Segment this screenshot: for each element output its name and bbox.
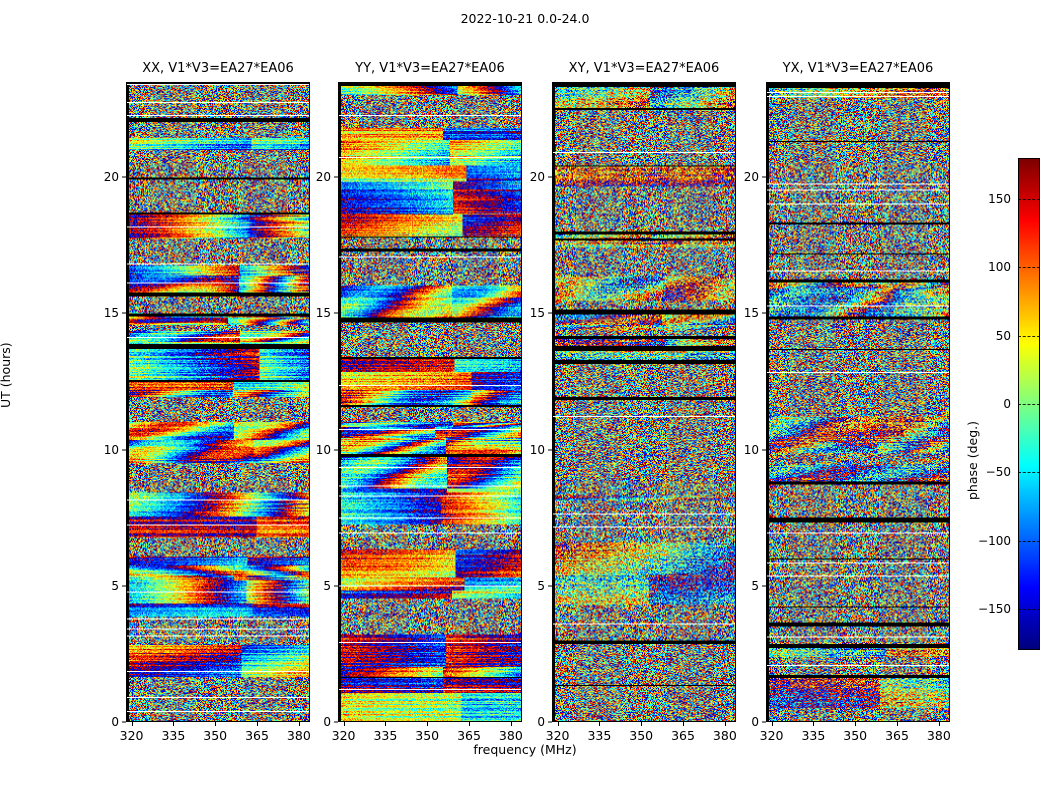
colorbar-tick-mark [1018,336,1040,338]
colorbar-tick-label: −50 [986,465,1018,479]
colorbar-tick-mark [1018,609,1040,611]
colorbar-label: phase (deg.) [965,421,980,500]
colorbar-tick-mark [1018,267,1040,269]
y-tick-label: 20 [104,170,126,184]
panel-title-xx: XX, V1*V3=EA27*EA06 [126,61,310,82]
figure-canvas: 2022-10-21 0.0-24.0 UT (hours) frequency… [0,0,1050,800]
x-tick-label: 335 [161,722,185,743]
x-tick-label: 320 [332,722,356,743]
x-tick-label: 335 [801,722,825,743]
colorbar-tick-mark [1018,541,1040,543]
heatmap-axes-xy[interactable] [552,82,736,722]
x-tick-label: 365 [245,722,269,743]
y-tick-label: 10 [316,443,338,457]
x-tick-label: 350 [203,722,227,743]
heatmap-axes-yy[interactable] [338,82,522,722]
x-tick-label: 350 [843,722,867,743]
y-tick-label: 5 [111,579,126,593]
colorbar-tick-label: 150 [988,192,1018,206]
panel-title-yy: YY, V1*V3=EA27*EA06 [338,61,522,82]
colorbar-tick-mark [1018,199,1040,201]
y-tick-label: 10 [104,443,126,457]
y-tick-label: 20 [744,170,766,184]
y-tick-label: 20 [530,170,552,184]
figure-suptitle: 2022-10-21 0.0-24.0 [0,11,1050,26]
heatmap-axes-yx[interactable] [766,82,950,722]
x-tick-label: 380 [713,722,737,743]
x-tick-label: 380 [287,722,311,743]
panel-yy[interactable]: YY, V1*V3=EA27*EA06 05101520320335350365… [338,82,522,722]
colorbar-tick-label: −150 [978,602,1018,616]
y-tick-label: 10 [744,443,766,457]
x-tick-label: 365 [885,722,909,743]
x-tick-label: 380 [927,722,951,743]
heatmap-axes-xx[interactable] [126,82,310,722]
y-tick-label: 20 [316,170,338,184]
x-tick-label: 365 [671,722,695,743]
x-tick-label: 335 [587,722,611,743]
x-tick-label: 320 [760,722,784,743]
colorbar-tick-mark [1018,472,1040,474]
x-tick-label: 335 [373,722,397,743]
x-tick-label: 350 [415,722,439,743]
y-tick-label: 5 [323,579,338,593]
colorbar-tick-label: −100 [978,534,1018,548]
y-tick-label: 15 [530,306,552,320]
y-tick-label: 5 [537,579,552,593]
x-tick-label: 380 [499,722,523,743]
panel-yx[interactable]: YX, V1*V3=EA27*EA06 05101520320335350365… [766,82,950,722]
y-tick-label: 5 [751,579,766,593]
y-tick-label: 15 [316,306,338,320]
x-tick-label: 320 [546,722,570,743]
colorbar-tick-label: 0 [1003,397,1018,411]
colorbar-tick-mark [1018,404,1040,406]
x-tick-label: 320 [120,722,144,743]
x-axis-label: frequency (MHz) [0,742,1050,757]
colorbar-tick-label: 50 [996,329,1018,343]
colorbar-tick-label: 100 [988,260,1018,274]
colorbar[interactable]: 150100500−50−100−150 [1018,158,1040,650]
y-axis-label: UT (hours) [0,342,13,408]
panel-xy[interactable]: XY, V1*V3=EA27*EA06 05101520320335350365… [552,82,736,722]
panel-title-yx: YX, V1*V3=EA27*EA06 [766,61,950,82]
x-tick-label: 365 [457,722,481,743]
panel-title-xy: XY, V1*V3=EA27*EA06 [552,61,736,82]
y-tick-label: 15 [104,306,126,320]
y-tick-label: 15 [744,306,766,320]
x-tick-label: 350 [629,722,653,743]
y-tick-label: 10 [530,443,552,457]
panel-xx[interactable]: XX, V1*V3=EA27*EA06 05101520320335350365… [126,82,310,722]
